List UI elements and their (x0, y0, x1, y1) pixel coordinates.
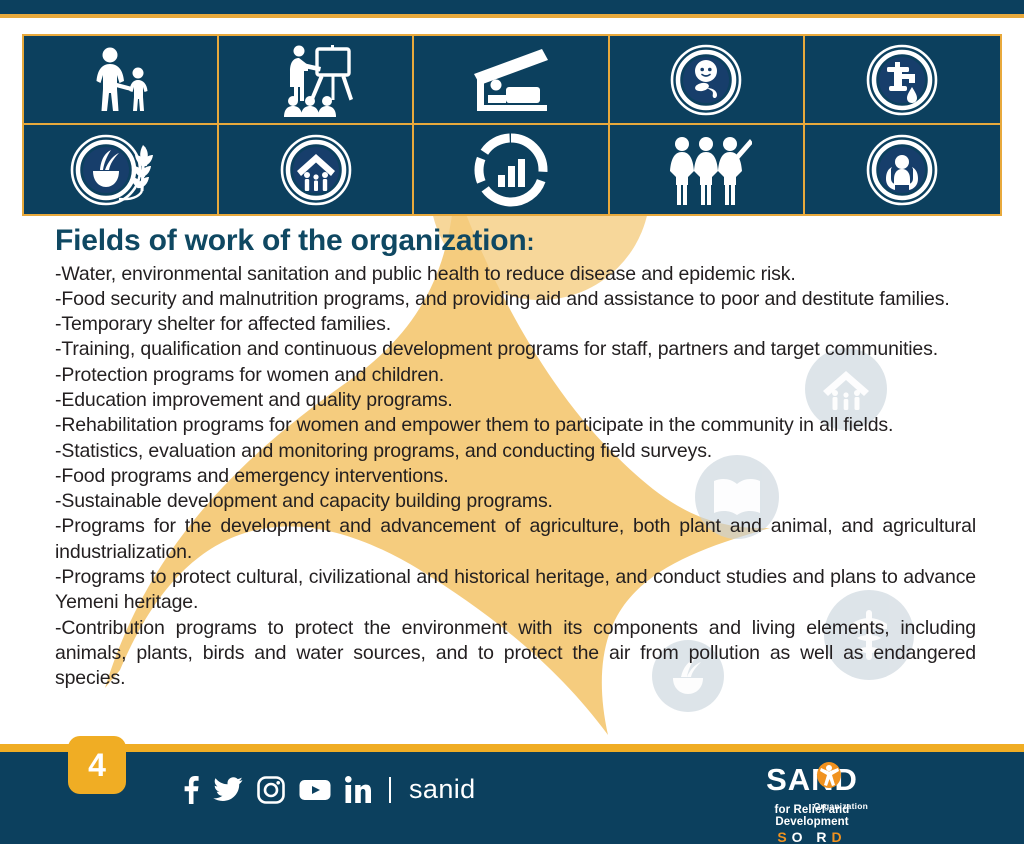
twitter-icon[interactable] (213, 777, 243, 803)
youtube-icon[interactable] (299, 778, 331, 802)
list-item: Rehabilitation programs for women and em… (55, 413, 976, 438)
page-title-colon: : (527, 229, 535, 256)
logo-star-figure (816, 761, 842, 793)
page-number-badge: 4 (68, 736, 126, 794)
statistics-chart-icon (414, 125, 609, 214)
shelter-bed-icon (414, 36, 609, 125)
logo-wordmark: SAND Organization (742, 765, 882, 795)
food-security-wheat-icon (24, 125, 219, 214)
family-housing-icon (219, 125, 414, 214)
logo-acronym-s: S (777, 829, 791, 844)
logo-acronym-d: D (832, 829, 847, 844)
logo-organization-text: Organization (814, 791, 868, 821)
list-item: Statistics, evaluation and monitoring pr… (55, 439, 976, 464)
list-item: Education improvement and quality progra… (55, 388, 976, 413)
list-item: Programs to protect cultural, civilizati… (55, 565, 976, 616)
list-item: Water, environmental sanitation and publ… (55, 262, 976, 287)
list-item: Programs for the development and advance… (55, 514, 976, 565)
caring-hands-icon (805, 125, 1000, 214)
list-item: Protection programs for women and childr… (55, 363, 976, 388)
fields-of-work-list: Water, environmental sanitation and publ… (0, 262, 1024, 692)
page-title: Fields of work of the organization: (55, 222, 1024, 260)
list-item: Temporary shelter for affected families. (55, 312, 976, 337)
main-content: Fields of work of the organization: Wate… (0, 222, 1024, 692)
list-item: Sustainable development and capacity bui… (55, 489, 976, 514)
footer-gold-rule (0, 744, 1024, 752)
child-nutrition-icon (610, 36, 805, 125)
list-item: Food security and malnutrition programs,… (55, 287, 976, 312)
page-number-text: 4 (88, 747, 106, 784)
sanid-logo: SAND Organization for Relief and Develop… (742, 765, 882, 827)
logo-acronym-or: O R (792, 829, 832, 844)
logo-acronym: SO RD (742, 829, 882, 844)
list-item: Contribution programs to protect the env… (55, 616, 976, 692)
page-title-text: Fields of work of the organization (55, 224, 527, 257)
women-empowerment-icon (610, 125, 805, 214)
social-separator (389, 777, 391, 803)
mother-and-child-icon (24, 36, 219, 125)
facebook-icon[interactable] (182, 776, 199, 804)
top-navy-band (0, 0, 1024, 14)
sectors-icon-grid (22, 34, 1002, 216)
slide-page: Fields of work of the organization: Wate… (0, 0, 1024, 844)
brand-handle: sanid (409, 774, 476, 805)
water-tap-icon (805, 36, 1000, 125)
list-item: Training, qualification and continuous d… (55, 337, 976, 362)
list-item: Food programs and emergency intervention… (55, 464, 976, 489)
instagram-icon[interactable] (257, 776, 285, 804)
top-gold-rule (0, 14, 1024, 18)
training-presentation-icon (219, 36, 414, 125)
linkedin-icon[interactable] (345, 776, 371, 803)
social-links-row: sanid (182, 774, 476, 805)
